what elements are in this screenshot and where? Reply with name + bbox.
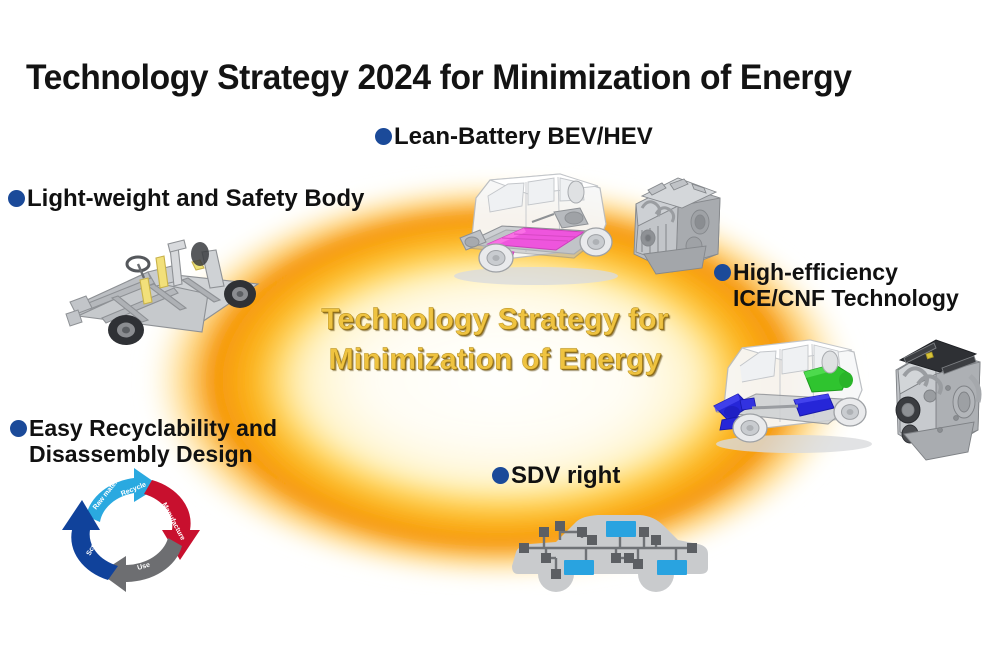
callout-sdv-right: SDV right — [492, 463, 620, 490]
recyclability-cycle-diagram-image: Raw materials Recycle Manufacture Use Sc… — [56, 468, 236, 603]
bullet-icon — [492, 467, 509, 484]
bullet-icon — [375, 128, 392, 145]
callout-sdv-right-label: SDV right — [511, 462, 620, 489]
light-weight-safety-body-chassis-image — [52, 210, 282, 360]
callout-easy-recyclability-label-2: Disassembly Design — [29, 442, 277, 468]
callout-lean-battery: Lean-Battery BEV/HEV — [375, 124, 653, 151]
hev-cutaway-vehicle-image — [698, 320, 888, 460]
callout-easy-recyclability-label: Easy Recyclability and — [29, 415, 277, 441]
callout-high-efficiency-label-2: ICE/CNF Technology — [733, 286, 959, 312]
callout-light-weight: Light-weight and Safety Body — [8, 186, 364, 213]
callout-high-efficiency: High-efficiency ICE/CNF Technology — [714, 260, 959, 312]
callout-easy-recyclability: Easy Recyclability and Disassembly Desig… — [10, 416, 277, 468]
callout-high-efficiency-label: High-efficiency — [733, 259, 898, 285]
callout-light-weight-label: Light-weight and Safety Body — [27, 185, 364, 212]
sdv-network-car-image — [498, 492, 718, 602]
slide-canvas: Technology Strategy 2024 for Minimizatio… — [0, 0, 1000, 667]
high-efficiency-engine-image — [878, 318, 1000, 473]
center-emblem-text: Technology Strategy for Minimization of … — [280, 300, 710, 379]
bullet-icon — [10, 420, 27, 437]
bullet-icon — [714, 264, 731, 281]
bev-cutaway-vehicle-image — [428, 152, 638, 292]
page-title: Technology Strategy 2024 for Minimizatio… — [26, 58, 852, 98]
bullet-icon — [8, 190, 25, 207]
center-emblem-line2: Minimization of Energy — [280, 340, 710, 380]
center-emblem-line1: Technology Strategy for — [321, 303, 668, 336]
callout-lean-battery-label: Lean-Battery BEV/HEV — [394, 123, 653, 150]
